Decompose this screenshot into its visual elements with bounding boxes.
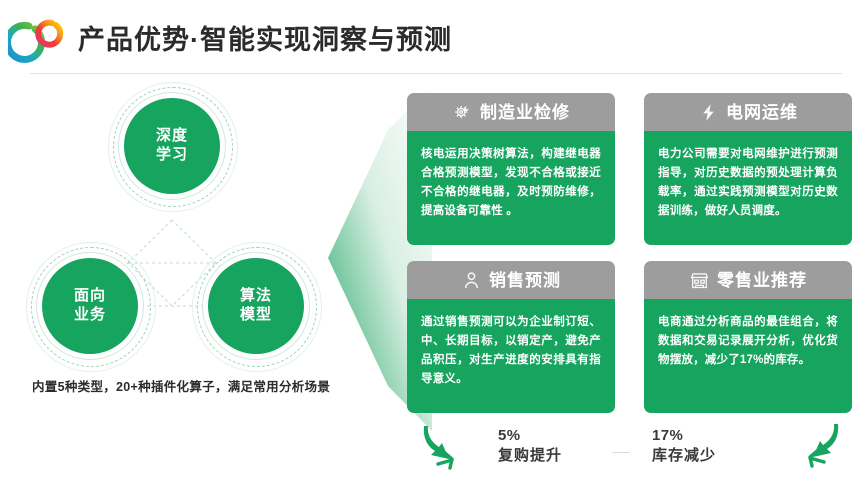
storefront-icon — [689, 270, 710, 291]
card-header: 销售预测 — [407, 261, 615, 299]
diagram-caption: 内置5种类型，20+种插件化算子，满足常用分析场景 — [32, 376, 362, 395]
slide-root: 产品优势·智能实现洞察与预测 深度 学习 面向 业务 — [0, 0, 865, 481]
card-manufacturing-maintenance[interactable]: 核电运用决策树算法，构建继电器合格预测模型，发现不合格或接近不合格的继电器，及时… — [407, 93, 615, 245]
stat-value: 17% — [652, 426, 792, 446]
stat-inventory: 17% 库存减少 — [652, 426, 792, 467]
curved-arrow-down-right-icon — [414, 420, 470, 476]
card-title: 销售预测 — [489, 272, 561, 289]
stat-separator — [612, 452, 630, 453]
card-title: 电网运维 — [726, 104, 798, 121]
stat-repurchase: 5% 复购提升 — [498, 426, 638, 467]
dual-ring-logo-icon — [8, 12, 70, 64]
title-divider — [30, 73, 842, 74]
stat-label: 复购提升 — [498, 446, 638, 466]
diagram-node-business-oriented[interactable]: 面向 业务 — [42, 258, 138, 354]
stats-row: 5% 复购提升 17% 库存减少 — [400, 414, 865, 478]
stat-label: 库存减少 — [652, 446, 792, 466]
card-body-text: 电力公司需要对电网维护进行预测指导，对历史数据的预处理计算负载率，通过实践预测模… — [644, 123, 852, 245]
node-label: 面向 业务 — [74, 287, 106, 325]
card-body-text: 核电运用决策树算法，构建继电器合格预测模型，发现不合格或接近不合格的继电器，及时… — [407, 123, 615, 245]
slide-header: 产品优势·智能实现洞察与预测 — [0, 0, 865, 78]
card-header: 零售业推荐 — [644, 261, 852, 299]
node-label: 深度 学习 — [156, 127, 188, 165]
stat-value: 5% — [498, 426, 638, 446]
page-title: 产品优势·智能实现洞察与预测 — [78, 18, 452, 57]
card-body-text: 电商通过分析商品的最佳组合，将数据和交易记录展开分析，优化货物摆放，减少了17%… — [644, 291, 852, 413]
card-grid-operations[interactable]: 电力公司需要对电网维护进行预测指导，对历史数据的预处理计算负载率，通过实践预测模… — [644, 93, 852, 245]
card-title: 制造业检修 — [480, 104, 570, 121]
curved-arrow-down-left-icon — [792, 418, 848, 474]
card-body-text: 通过销售预测可以为企业制订短、中、长期目标，以销定产，避免产品积压，对生产进度的… — [407, 291, 615, 413]
node-label: 算法 模型 — [240, 287, 272, 325]
lightning-bolt-icon — [698, 102, 719, 123]
use-case-cards: 核电运用决策树算法，构建继电器合格预测模型，发现不合格或接近不合格的继电器，及时… — [407, 93, 852, 415]
capability-diagram: 深度 学习 面向 业务 算法 模型 内置5种类型，20+种插件化算子，满足常用分… — [18, 92, 348, 392]
card-header: 制造业检修 — [407, 93, 615, 131]
card-title: 零售业推荐 — [717, 272, 807, 289]
card-header: 电网运维 — [644, 93, 852, 131]
card-retail-recommendation[interactable]: 电商通过分析商品的最佳组合，将数据和交易记录展开分析，优化货物摆放，减少了17%… — [644, 261, 852, 413]
card-sales-forecast[interactable]: 通过销售预测可以为企业制订短、中、长期目标，以销定产，避免产品积压，对生产进度的… — [407, 261, 615, 413]
gear-wrench-icon — [452, 102, 473, 123]
diagram-node-algorithm-model[interactable]: 算法 模型 — [208, 258, 304, 354]
person-icon — [461, 270, 482, 291]
diagram-node-deep-learning[interactable]: 深度 学习 — [124, 98, 220, 194]
